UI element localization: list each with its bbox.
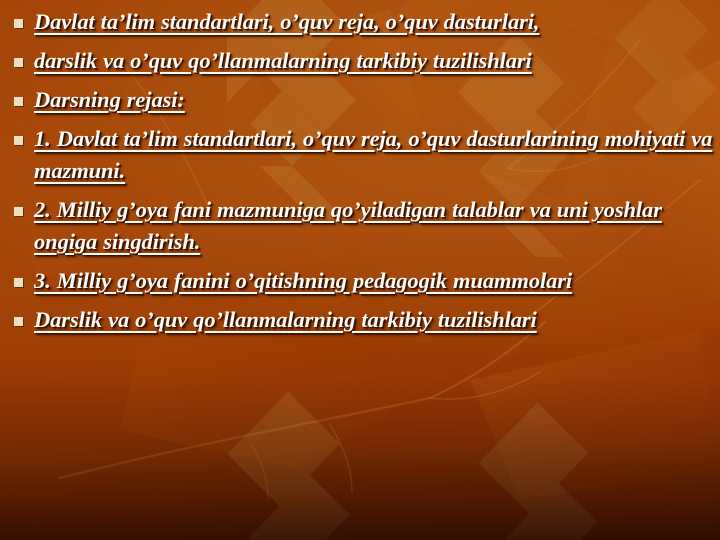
list-item: 2. Milliy g’oya fani mazmuniga qo’yiladi… xyxy=(0,194,720,258)
square-bullet-icon xyxy=(14,278,23,287)
presentation-slide: Davlat ta’lim standartlari, o’quv reja, … xyxy=(0,0,720,540)
bullet-text: Davlat ta’lim standartlari, o’quv reja, … xyxy=(34,6,716,38)
square-bullet-icon xyxy=(14,97,23,106)
list-item: Davlat ta’lim standartlari, o’quv reja, … xyxy=(0,6,720,38)
square-bullet-icon xyxy=(14,19,23,28)
list-item: Darsning rejasi: xyxy=(0,84,720,116)
bullet-text: Darslik va o’quv qo’llanmalarning tarkib… xyxy=(34,304,716,336)
list-item: darslik va o’quv qo’llanmalarning tarkib… xyxy=(0,45,720,77)
list-item: 3. Milliy g’oya fanini o’qitishning peda… xyxy=(0,265,720,297)
square-bullet-icon xyxy=(14,58,23,67)
bullet-text: 2. Milliy g’oya fani mazmuniga qo’yiladi… xyxy=(34,194,716,258)
list-item: 1. Davlat ta’lim standartlari, o’quv rej… xyxy=(0,123,720,187)
square-bullet-icon xyxy=(14,317,23,326)
bullet-text: darslik va o’quv qo’llanmalarning tarkib… xyxy=(34,45,716,77)
bullet-text: 3. Milliy g’oya fanini o’qitishning peda… xyxy=(34,265,716,297)
bullet-text: Darsning rejasi: xyxy=(34,84,716,116)
bullet-text: 1. Davlat ta’lim standartlari, o’quv rej… xyxy=(34,123,716,187)
slide-body: Davlat ta’lim standartlari, o’quv reja, … xyxy=(0,0,720,343)
list-item: Darslik va o’quv qo’llanmalarning tarkib… xyxy=(0,304,720,336)
square-bullet-icon xyxy=(14,207,23,216)
square-bullet-icon xyxy=(14,136,23,145)
